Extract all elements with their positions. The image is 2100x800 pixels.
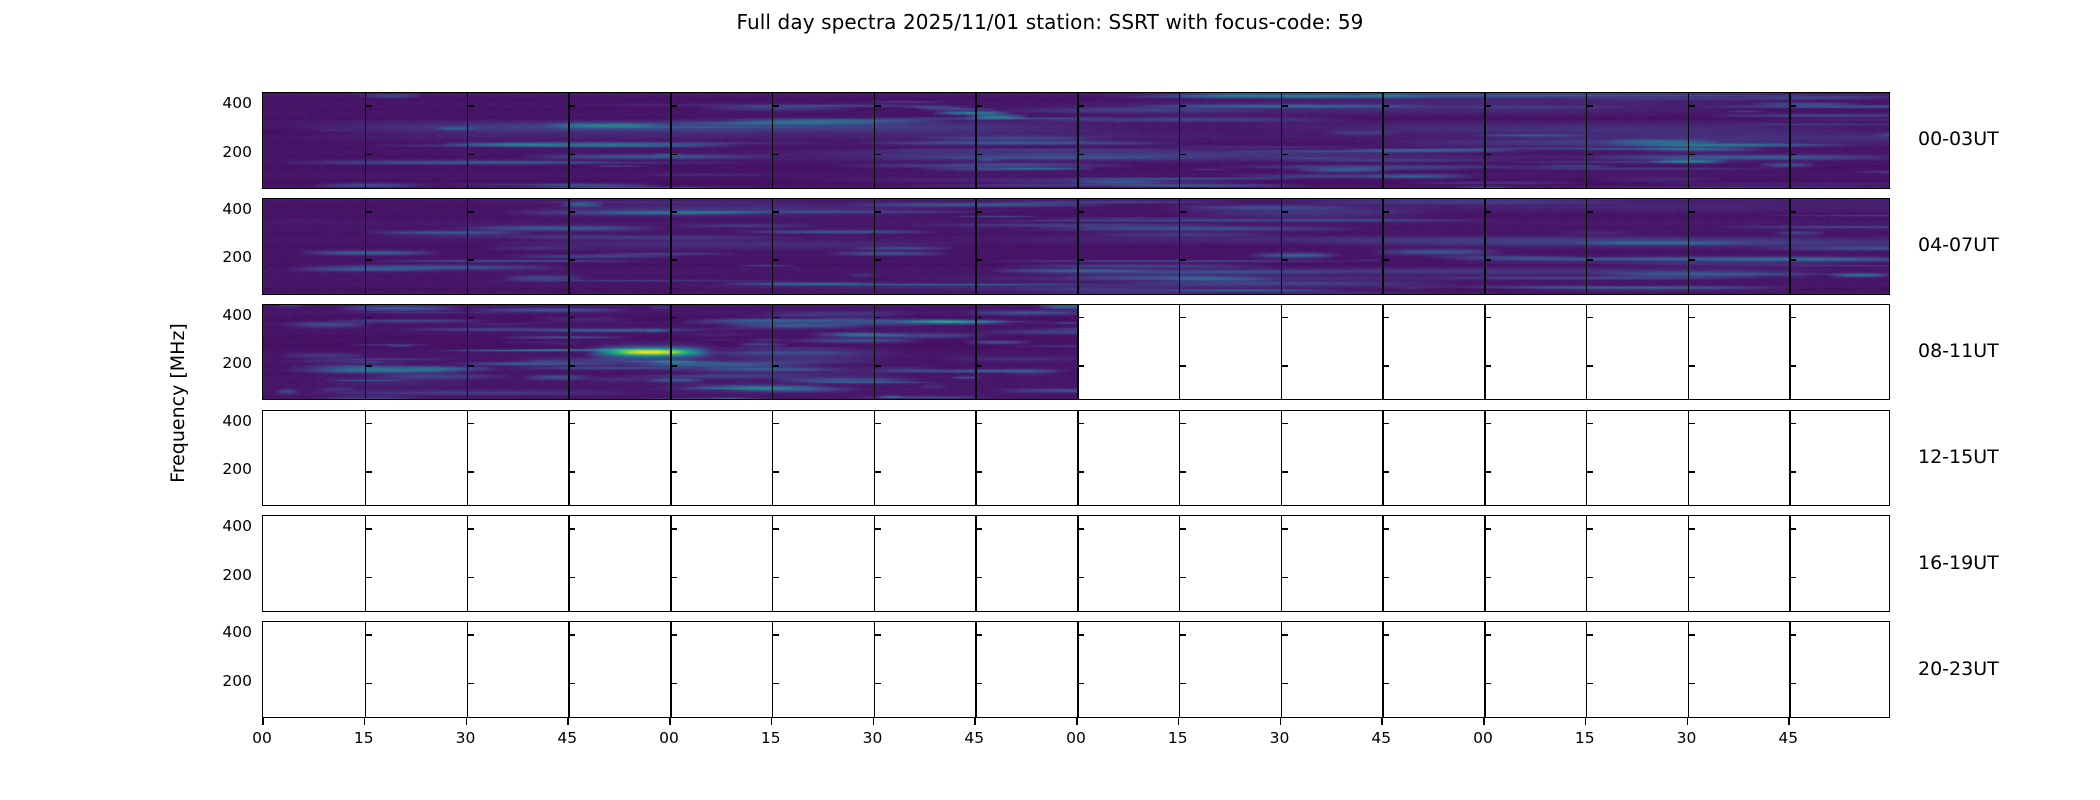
y-axis-tick: [365, 634, 372, 636]
y-axis-tick: [365, 317, 372, 319]
y-axis-tick: [365, 365, 372, 367]
y-axis-tick: [1484, 471, 1491, 473]
y-axis-tick: [467, 317, 474, 319]
y-axis-tick: [975, 317, 982, 319]
y-axis-tick: [772, 683, 779, 685]
panel-divider: [1484, 516, 1486, 611]
x-axis-tick-label: 00: [252, 729, 272, 747]
y-axis-tick: [262, 471, 263, 473]
spectrogram-row[interactable]: [262, 198, 1890, 295]
panel-divider: [975, 516, 977, 611]
panel-divider: [975, 305, 977, 400]
x-axis-tick: [669, 718, 671, 725]
y-axis-tick: [874, 634, 881, 636]
panel-divider: [1179, 622, 1181, 717]
y-axis-tick: [1281, 423, 1288, 425]
x-axis: 00153045001530450015304500153045: [262, 718, 1890, 778]
panel-divider: [1688, 622, 1690, 717]
panel-divider: [1179, 411, 1181, 506]
panel-divider: [467, 516, 469, 611]
y-axis-tick: [1179, 365, 1186, 367]
y-axis-tick: [1077, 634, 1084, 636]
panel-divider: [365, 516, 367, 611]
y-axis-tick: [365, 259, 372, 261]
y-axis-tick: [365, 423, 372, 425]
y-axis-tick: [365, 528, 372, 530]
y-axis-tick-label: 400: [192, 306, 252, 324]
y-axis-tick: [1484, 317, 1491, 319]
y-axis-tick: [1281, 259, 1288, 261]
y-axis-tick: [568, 471, 575, 473]
y-axis-tick: [1586, 317, 1593, 319]
y-axis-tick: [1586, 528, 1593, 530]
y-axis-tick: [1484, 211, 1491, 213]
y-axis-tick: [1281, 683, 1288, 685]
y-axis-tick: [1688, 365, 1695, 367]
panel-divider: [1281, 516, 1283, 611]
y-axis-tick: [1484, 423, 1491, 425]
y-axis-tick: [874, 365, 881, 367]
x-axis-tick: [873, 718, 875, 725]
y-axis-tick: [874, 211, 881, 213]
y-axis-tick: [1586, 105, 1593, 107]
panel-divider: [1281, 93, 1283, 188]
y-axis-tick: [670, 365, 677, 367]
y-axis-tick-label: 400: [192, 94, 252, 112]
panel-divider: [1586, 516, 1588, 611]
y-axis-tick: [467, 154, 474, 156]
y-axis-tick: [874, 259, 881, 261]
y-axis-tick-label: 200: [192, 248, 252, 266]
panel-divider: [1382, 305, 1384, 400]
panel-divider: [1484, 305, 1486, 400]
spectrogram-figure: Full day spectra 2025/11/01 station: SSR…: [0, 0, 2100, 800]
x-axis-tick: [262, 718, 264, 725]
y-axis-tick: [874, 105, 881, 107]
y-axis-tick: [670, 154, 677, 156]
y-axis-tick: [365, 683, 372, 685]
y-axis-tick: [1179, 528, 1186, 530]
panel-divider: [1789, 411, 1791, 506]
panel-divider: [1179, 93, 1181, 188]
y-axis-tick: [1382, 154, 1389, 156]
y-axis-tick: [975, 471, 982, 473]
panel-divider: [772, 411, 774, 506]
y-axis-tick: [1077, 365, 1084, 367]
y-axis-tick: [365, 154, 372, 156]
y-axis-tick: [1179, 423, 1186, 425]
y-axis-tick: [772, 365, 779, 367]
panel-divider: [1586, 93, 1588, 188]
panel-divider: [874, 93, 876, 188]
y-axis-tick: [1281, 634, 1288, 636]
panel-divider: [1382, 516, 1384, 611]
panel-divider: [670, 622, 672, 717]
y-axis-tick: [1179, 317, 1186, 319]
x-axis-tick: [1280, 718, 1282, 725]
y-axis-tick: [1688, 211, 1695, 213]
y-axis-tick: [772, 154, 779, 156]
x-axis-tick: [567, 718, 569, 725]
y-axis-tick-label: 200: [192, 354, 252, 372]
panel-divider: [772, 305, 774, 400]
y-axis-tick: [262, 105, 263, 107]
y-axis-tick: [1789, 634, 1796, 636]
y-axis-tick: [262, 211, 263, 213]
y-axis-tick: [1789, 105, 1796, 107]
y-axis-tick: [1484, 259, 1491, 261]
y-axis-tick: [1789, 528, 1796, 530]
y-axis-tick: [975, 154, 982, 156]
panel-divider: [1077, 411, 1079, 506]
y-axis-tick: [1484, 634, 1491, 636]
y-axis-title: Frequency [MHz]: [167, 323, 189, 483]
panel-divider: [365, 305, 367, 400]
y-axis-tick: [1484, 105, 1491, 107]
y-axis-tick: [568, 423, 575, 425]
y-axis-tick: [1586, 423, 1593, 425]
y-axis-tick: [772, 423, 779, 425]
y-axis-tick-label: 400: [192, 623, 252, 641]
y-axis-tick-label: 200: [192, 143, 252, 161]
x-axis-tick-label: 45: [1371, 729, 1391, 747]
panel-divider: [1789, 622, 1791, 717]
y-axis-tick: [1382, 634, 1389, 636]
y-axis-tick: [1077, 577, 1084, 579]
y-axis-tick: [1382, 683, 1389, 685]
y-axis-tick: [1484, 154, 1491, 156]
y-axis-tick: [772, 577, 779, 579]
y-axis-tick: [568, 528, 575, 530]
row-label-08-11ut: 08-11UT: [1918, 340, 1999, 362]
x-axis-tick-label: 00: [1473, 729, 1493, 747]
y-axis-tick: [568, 634, 575, 636]
y-axis-tick: [975, 683, 982, 685]
y-axis-tick: [1688, 577, 1695, 579]
y-axis-tick: [1077, 317, 1084, 319]
x-axis-tick: [1788, 718, 1790, 725]
y-axis-tick-label: 200: [192, 566, 252, 584]
y-axis-tick: [262, 634, 263, 636]
panel-divider: [1688, 516, 1690, 611]
y-axis-tick: [568, 105, 575, 107]
y-axis-tick: [670, 634, 677, 636]
y-axis-tick: [1077, 528, 1084, 530]
y-axis-tick: [874, 154, 881, 156]
panel-divider: [467, 411, 469, 506]
y-axis-tick: [1281, 577, 1288, 579]
x-axis-tick: [1687, 718, 1689, 725]
y-axis-tick: [1077, 683, 1084, 685]
y-axis-tick: [467, 634, 474, 636]
panel-divider: [772, 622, 774, 717]
panel-divider: [1789, 305, 1791, 400]
x-axis-tick-label: 00: [1066, 729, 1086, 747]
y-axis-tick: [1789, 365, 1796, 367]
x-axis-tick: [974, 718, 976, 725]
panel-divider: [1586, 199, 1588, 294]
y-axis-tick: [772, 211, 779, 213]
y-axis-tick: [1179, 154, 1186, 156]
y-axis-tick: [874, 423, 881, 425]
y-axis-tick: [1484, 365, 1491, 367]
panel-divider: [467, 622, 469, 717]
y-axis-tick: [1077, 259, 1084, 261]
y-axis-tick: [1281, 317, 1288, 319]
y-axis-tick: [670, 423, 677, 425]
y-axis-tick: [1688, 317, 1695, 319]
x-axis-tick: [364, 718, 366, 725]
panel-divider: [772, 199, 774, 294]
y-axis-tick: [1484, 528, 1491, 530]
y-axis-tick: [1179, 259, 1186, 261]
x-axis-tick: [1585, 718, 1587, 725]
y-axis-tick: [1382, 317, 1389, 319]
y-axis-tick: [365, 577, 372, 579]
row-label-00-03ut: 00-03UT: [1918, 128, 1999, 150]
y-axis-tick: [1077, 154, 1084, 156]
y-axis-tick: [1077, 423, 1084, 425]
panel-divider: [975, 93, 977, 188]
y-axis-tick: [1382, 365, 1389, 367]
panel-divider: [874, 622, 876, 717]
y-axis-tick: [262, 423, 263, 425]
panel-divider: [670, 305, 672, 400]
x-axis-tick-label: 30: [1270, 729, 1290, 747]
y-axis-tick: [467, 471, 474, 473]
y-axis-tick: [262, 365, 263, 367]
panel-divider: [1179, 199, 1181, 294]
y-axis-tick: [467, 211, 474, 213]
y-axis-tick: [1077, 471, 1084, 473]
y-axis-tick: [1789, 317, 1796, 319]
x-axis-tick-label: 15: [1575, 729, 1595, 747]
panel-divider: [1484, 411, 1486, 506]
y-axis-tick: [1789, 577, 1796, 579]
panel-divider: [1586, 411, 1588, 506]
y-axis-tick: [874, 577, 881, 579]
panel-divider: [1688, 199, 1690, 294]
y-axis-tick: [1484, 683, 1491, 685]
y-axis-tick: [1382, 105, 1389, 107]
y-axis-tick: [467, 528, 474, 530]
panel-divider: [365, 199, 367, 294]
x-axis-tick: [771, 718, 773, 725]
panel-divider: [1484, 93, 1486, 188]
panel-divider: [1382, 199, 1384, 294]
panel-divider: [1586, 305, 1588, 400]
y-axis-tick: [262, 259, 263, 261]
y-axis-tick: [670, 259, 677, 261]
y-axis-tick: [262, 154, 263, 156]
y-axis-tick: [262, 577, 263, 579]
panel-divider: [975, 622, 977, 717]
y-axis-tick: [467, 105, 474, 107]
panel-divider: [568, 93, 570, 188]
y-axis-tick: [1281, 365, 1288, 367]
row-label-20-23ut: 20-23UT: [1918, 658, 1999, 680]
y-axis-tick: [772, 471, 779, 473]
panel-divider: [1077, 305, 1079, 400]
panel-divider: [1281, 411, 1283, 506]
y-axis-tick: [1789, 423, 1796, 425]
panel-divider: [1179, 516, 1181, 611]
y-axis-tick: [1382, 471, 1389, 473]
panel-divider: [1688, 305, 1690, 400]
x-axis-tick-label: 00: [659, 729, 679, 747]
panel-divider: [1077, 93, 1079, 188]
y-axis-tick: [1789, 259, 1796, 261]
spectrogram-row[interactable]: [262, 410, 1890, 507]
y-axis-tick: [467, 683, 474, 685]
y-axis-tick: [670, 471, 677, 473]
y-axis-tick: [975, 259, 982, 261]
panel-divider: [1382, 93, 1384, 188]
y-axis-tick: [467, 365, 474, 367]
y-axis-tick: [365, 211, 372, 213]
x-axis-tick: [1483, 718, 1485, 725]
y-axis-tick: [568, 683, 575, 685]
y-axis-tick: [262, 528, 263, 530]
y-axis-tick: [1586, 365, 1593, 367]
spectrogram-row[interactable]: [262, 304, 1890, 401]
spectrogram-row[interactable]: [262, 621, 1890, 718]
y-axis-tick: [772, 259, 779, 261]
panel-divider: [1789, 516, 1791, 611]
panel-divider: [365, 622, 367, 717]
x-axis-tick: [1381, 718, 1383, 725]
x-axis-tick-label: 15: [761, 729, 781, 747]
panel-divider: [365, 411, 367, 506]
y-axis-tick: [772, 105, 779, 107]
x-axis-tick-label: 30: [456, 729, 476, 747]
y-axis-tick: [1382, 577, 1389, 579]
y-axis-tick: [670, 683, 677, 685]
y-axis-tick: [1688, 423, 1695, 425]
panel-divider: [467, 199, 469, 294]
y-axis-tick-label: 200: [192, 460, 252, 478]
panel-divider: [1382, 411, 1384, 506]
x-axis-tick-label: 15: [1168, 729, 1188, 747]
panel-divider: [467, 305, 469, 400]
x-axis-tick-label: 45: [1778, 729, 1798, 747]
row-label-16-19ut: 16-19UT: [1918, 552, 1999, 574]
y-axis-tick: [1789, 211, 1796, 213]
y-axis-tick: [874, 471, 881, 473]
y-axis-tick: [772, 317, 779, 319]
y-axis-tick: [262, 683, 263, 685]
y-axis-tick-label: 200: [192, 672, 252, 690]
panel-divider: [1382, 622, 1384, 717]
panel-divider: [772, 516, 774, 611]
y-axis-tick: [670, 577, 677, 579]
y-axis-tick: [1586, 683, 1593, 685]
y-axis-tick: [874, 317, 881, 319]
y-axis-tick: [1179, 577, 1186, 579]
y-axis-tick: [1281, 471, 1288, 473]
y-axis-tick: [1179, 683, 1186, 685]
spectrogram-row[interactable]: [262, 92, 1890, 189]
y-axis-tick: [670, 105, 677, 107]
panel-divider: [568, 516, 570, 611]
y-axis-tick: [1789, 471, 1796, 473]
y-axis-tick: [1179, 471, 1186, 473]
y-axis-tick: [1586, 471, 1593, 473]
row-label-12-15ut: 12-15UT: [1918, 446, 1999, 468]
panel-divider: [1281, 305, 1283, 400]
panel-divider: [874, 199, 876, 294]
y-axis-tick: [568, 365, 575, 367]
panel-divider: [975, 199, 977, 294]
y-axis-tick: [1077, 105, 1084, 107]
panel-divider: [365, 93, 367, 188]
y-axis-tick: [1179, 634, 1186, 636]
panel-divider: [1688, 411, 1690, 506]
y-axis-tick: [1382, 211, 1389, 213]
y-axis-tick: [1586, 154, 1593, 156]
y-axis-tick: [1789, 683, 1796, 685]
panel-divider: [1077, 622, 1079, 717]
y-axis-tick: [772, 528, 779, 530]
panel-divider: [670, 411, 672, 506]
x-axis-tick: [466, 718, 468, 725]
y-axis-tick: [670, 211, 677, 213]
y-axis-tick: [568, 577, 575, 579]
y-axis-tick: [1281, 154, 1288, 156]
panel-divider: [1484, 199, 1486, 294]
y-axis-tick: [1688, 259, 1695, 261]
y-axis-tick: [1281, 211, 1288, 213]
panel-divider: [1281, 199, 1283, 294]
x-axis-tick-label: 45: [964, 729, 984, 747]
panel-divider: [975, 411, 977, 506]
panel-divider: [874, 305, 876, 400]
x-axis-tick-label: 15: [354, 729, 374, 747]
panel-divider: [1789, 199, 1791, 294]
y-axis-tick: [1281, 105, 1288, 107]
panel-divider: [670, 199, 672, 294]
y-axis-tick: [1688, 471, 1695, 473]
panel-divider: [568, 411, 570, 506]
x-axis-tick: [1178, 718, 1180, 725]
y-axis-tick: [568, 154, 575, 156]
y-axis-tick: [670, 317, 677, 319]
panel-divider: [568, 199, 570, 294]
panel-divider: [670, 516, 672, 611]
y-axis-tick: [1382, 259, 1389, 261]
y-axis-tick: [975, 423, 982, 425]
y-axis-tick: [1077, 211, 1084, 213]
y-axis-tick: [975, 577, 982, 579]
y-axis-tick: [1688, 683, 1695, 685]
y-axis-tick: [975, 365, 982, 367]
panel-divider: [1789, 93, 1791, 188]
y-axis-tick: [365, 105, 372, 107]
x-axis-tick-label: 45: [557, 729, 577, 747]
y-axis-tick: [1382, 528, 1389, 530]
y-axis-tick: [1688, 528, 1695, 530]
y-axis-tick-label: 400: [192, 517, 252, 535]
spectrogram-row[interactable]: [262, 515, 1890, 612]
x-axis-tick-label: 30: [1677, 729, 1697, 747]
y-axis-tick: [467, 577, 474, 579]
panel-divider: [1077, 199, 1079, 294]
y-axis-tick: [874, 683, 881, 685]
y-axis-tick: [1179, 211, 1186, 213]
y-axis-tick: [1586, 577, 1593, 579]
y-axis-tick: [1179, 105, 1186, 107]
panel-divider: [670, 93, 672, 188]
